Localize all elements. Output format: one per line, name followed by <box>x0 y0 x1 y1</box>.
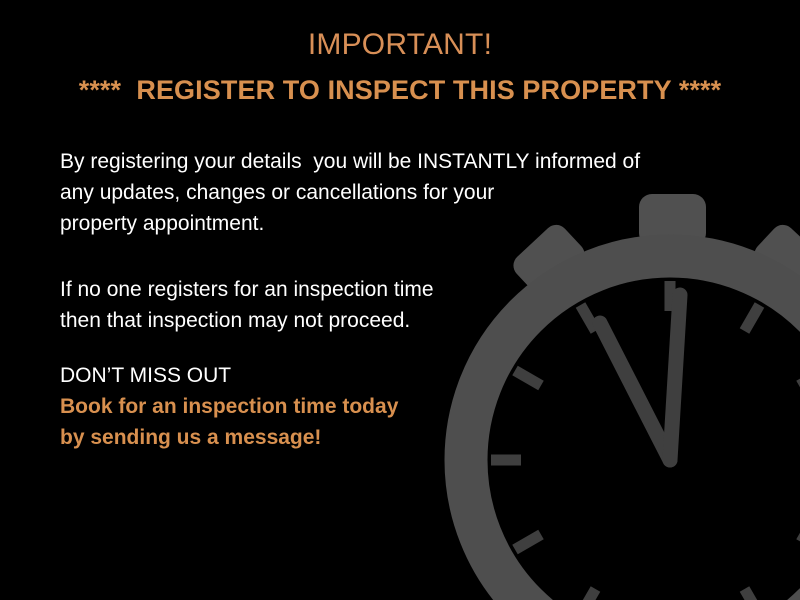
text-layer: IMPORTANT! **** REGISTER TO INSPECT THIS… <box>0 0 800 600</box>
cta-line-dont-miss-out: DON’T MISS OUT <box>60 360 720 391</box>
paragraph-registering: By registering your details you will be … <box>60 146 720 239</box>
paragraph-line: property appointment. <box>60 208 720 239</box>
cta-line-book-inspection: Book for an inspection time today <box>60 391 720 422</box>
page-title: IMPORTANT! <box>0 28 800 62</box>
paragraph-no-registrations: If no one registers for an inspection ti… <box>60 274 720 336</box>
paragraph-line: any updates, changes or cancellations fo… <box>60 177 720 208</box>
paragraph-call-to-action: DON’T MISS OUT Book for an inspection ti… <box>60 360 720 453</box>
slide-canvas: IMPORTANT! **** REGISTER TO INSPECT THIS… <box>0 0 800 600</box>
paragraph-line: then that inspection may not proceed. <box>60 305 720 336</box>
cta-line-send-message: by sending us a message! <box>60 422 720 453</box>
page-subtitle: **** REGISTER TO INSPECT THIS PROPERTY *… <box>0 75 800 106</box>
paragraph-line: If no one registers for an inspection ti… <box>60 274 720 305</box>
paragraph-line: By registering your details you will be … <box>60 146 720 177</box>
